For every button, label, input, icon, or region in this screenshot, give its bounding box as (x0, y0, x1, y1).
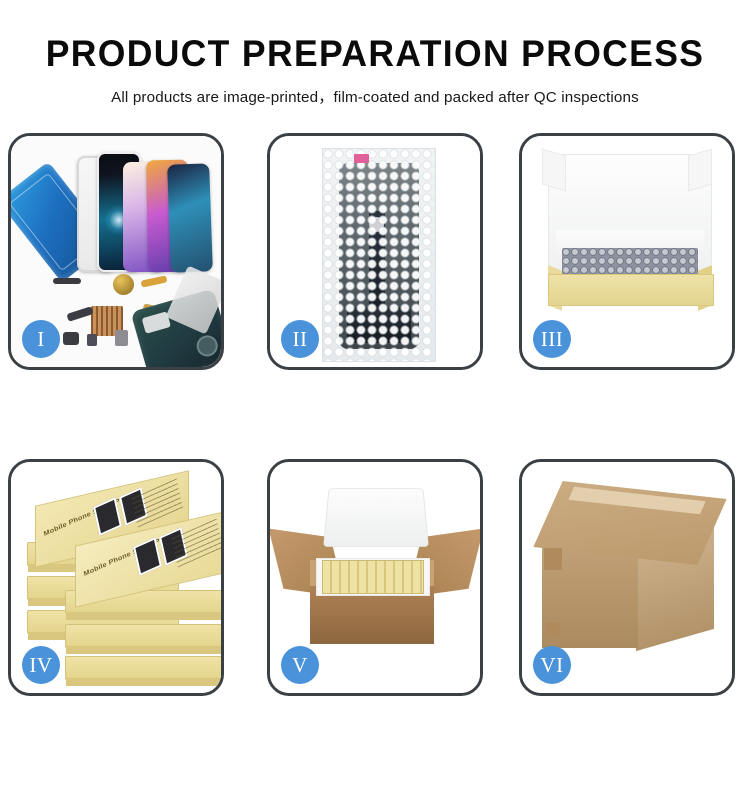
phone-screen-image (167, 163, 213, 272)
process-step-panel-4[interactable]: Mobile Phone Spare Parts Mobile Phone Sp… (8, 459, 224, 696)
page-subtitle: All products are image-printed，film-coat… (0, 85, 750, 107)
page-header: PRODUCT PREPARATION PROCESS All products… (0, 0, 750, 107)
bubble-texture-overlay (323, 149, 435, 361)
process-step-grid: I II (0, 133, 750, 785)
phone-screen-fan-image (81, 152, 221, 272)
carton-tab-image (546, 622, 560, 636)
retail-box-edge-image (65, 624, 221, 648)
process-step-panel-2[interactable]: II (267, 133, 483, 370)
step-badge-4: IV (22, 646, 60, 684)
part-coil-image (113, 274, 134, 295)
part-battery-image (115, 330, 128, 346)
retail-box-edge-image (65, 656, 221, 680)
bubble-wrap-bag-image (322, 148, 436, 362)
pink-qc-sticker-image (354, 154, 369, 163)
step-badge-2: II (281, 320, 319, 358)
process-row-1: I II (0, 133, 750, 373)
retail-box-spec-text-image (171, 518, 221, 568)
process-step-panel-6[interactable]: VI (519, 459, 735, 696)
page-title: PRODUCT PREPARATION PROCESS (15, 34, 735, 74)
box-lid-flap-image (688, 149, 712, 192)
step-badge-3: III (533, 320, 571, 358)
kraft-tray-image (548, 274, 714, 306)
foam-lid-image (323, 488, 429, 547)
packed-yellow-boxes-image (322, 560, 424, 594)
process-step-panel-3[interactable]: III (519, 133, 735, 370)
process-row-2: Mobile Phone Spare Parts Mobile Phone Sp… (0, 459, 750, 699)
process-step-panel-5[interactable]: V (267, 459, 483, 696)
step-badge-5: V (281, 646, 319, 684)
step-badge-6: VI (533, 646, 571, 684)
part-speaker-image (63, 332, 79, 345)
part-button-image (87, 334, 97, 346)
part-camera-module-image (66, 306, 93, 322)
box-lid-flap-image (542, 149, 566, 192)
part-bar-image (53, 278, 81, 284)
process-step-panel-1[interactable]: I (8, 133, 224, 370)
carton-tab-image (544, 548, 562, 570)
part-flex-cable-image (141, 275, 168, 287)
retail-box-spec-text-image (131, 478, 183, 528)
step-badge-1: I (22, 320, 60, 358)
